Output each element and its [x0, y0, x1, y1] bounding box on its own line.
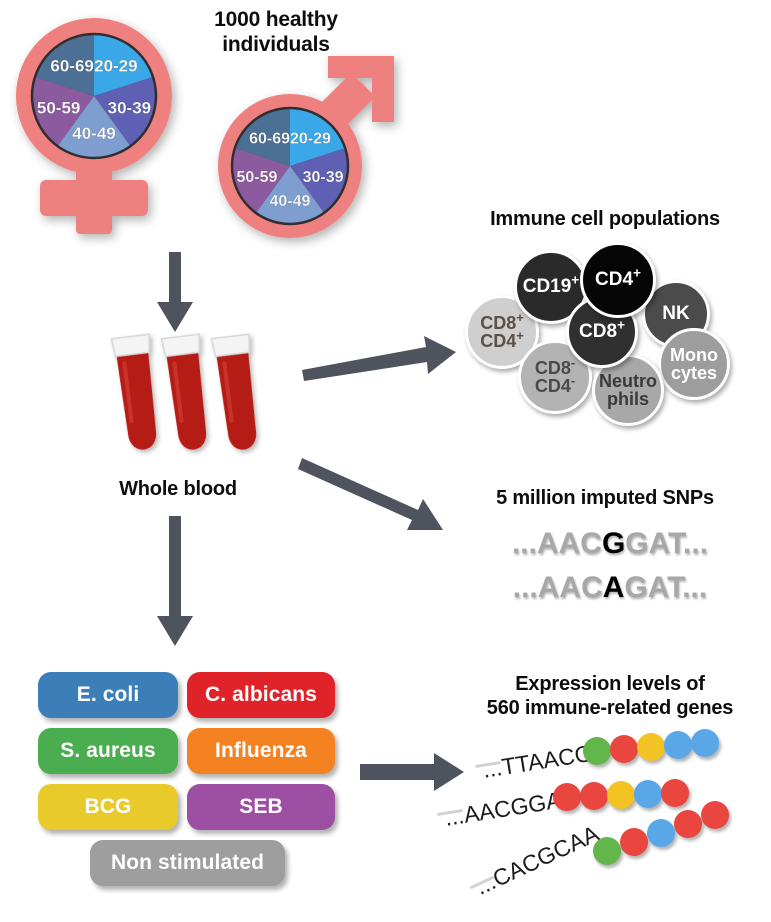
- arrow-down-blood-to-stimuli: [155, 516, 195, 648]
- stimuli-panel: E. coliC. albicansS. aureusInfluenzaBCGS…: [38, 672, 338, 887]
- age-label-60-69: 60-69: [50, 57, 93, 76]
- gene-bead: [607, 781, 635, 809]
- age-label-40-49: 40-49: [72, 124, 115, 143]
- snp-suffix: GAT...: [624, 571, 707, 604]
- snp-suffix: GAT...: [625, 527, 708, 560]
- snps-title: 5 million imputed SNPs: [440, 487, 770, 511]
- immune-cell-CD4: CD4+: [580, 242, 656, 318]
- stimulus-seb[interactable]: SEB: [187, 784, 335, 830]
- gene-bead: [553, 783, 581, 811]
- age-label-60-69: 60-69: [249, 130, 290, 147]
- stimulus-c-albicans[interactable]: C. albicans: [187, 672, 335, 718]
- immune-cell-Monocytes: Monocytes: [658, 328, 730, 400]
- gene-bead: [583, 737, 611, 765]
- gene-bead: [647, 819, 675, 847]
- gene-bead: [661, 779, 689, 807]
- cell-label-line2: phils: [599, 390, 657, 408]
- gene-bead: [593, 837, 621, 865]
- age-label-40-49: 40-49: [270, 193, 311, 210]
- stimulus-label: Influenza: [215, 739, 307, 763]
- stimulus-non-stimulated[interactable]: Non stimulated: [90, 840, 285, 886]
- gene-bead: [691, 729, 719, 757]
- stimulus-label: Non stimulated: [111, 851, 264, 875]
- gene-bead: [610, 735, 638, 763]
- arrow-blood-to-snps: [300, 452, 460, 542]
- cell-label-line1: CD8-: [535, 359, 575, 377]
- age-label-20-29: 20-29: [94, 57, 137, 76]
- stimulus-influenza[interactable]: Influenza: [187, 728, 335, 774]
- figure-canvas: 1000 healthy individuals 20-2930-3940-49…: [0, 0, 771, 922]
- age-label-50-59: 50-59: [37, 98, 80, 117]
- snp-sequence-row: ...AACAGAT...: [470, 571, 750, 605]
- gene-expression-title: Expression levels of 560 immune-related …: [455, 673, 765, 720]
- immune-cell-cluster: CD19+CD4+NKCD8+CD4+CD8+MonocytesCD8-CD4-…: [462, 240, 762, 430]
- blood-tubes: [108, 330, 288, 480]
- stimulus-bcg[interactable]: BCG: [38, 784, 178, 830]
- snp-prefix: ...AAC: [512, 527, 602, 560]
- snp-sequences: ...AACGGAT......AACAGAT...: [470, 527, 750, 607]
- stimulus-label: S. aureus: [60, 739, 155, 763]
- gene-expression-title-line2: 560 immune-related genes: [455, 697, 765, 721]
- cell-label-line1: CD4+: [595, 270, 641, 289]
- gene-bead: [664, 731, 692, 759]
- cell-label-line1: CD19+: [523, 277, 580, 296]
- snp-prefix: ...AAC: [513, 571, 603, 604]
- gene-bead: [637, 733, 665, 761]
- gene-strands: ...TTAACGG...AACGGAT...CACGCAA: [455, 735, 771, 895]
- gene-sequence-text: ...CACGCAA: [471, 820, 603, 901]
- cell-label-line2: CD4+: [480, 332, 524, 350]
- snp-sequence-row: ...AACGGAT...: [470, 527, 750, 561]
- arrow-stimuli-to-genes: [360, 752, 466, 792]
- stimulus-label: E. coli: [77, 683, 140, 707]
- immune-title: Immune cell populations: [440, 208, 770, 232]
- stimulus-label: C. albicans: [205, 683, 317, 707]
- gene-bead: [620, 828, 648, 856]
- stimulus-label: SEB: [239, 795, 282, 819]
- stimulus-s-aureus[interactable]: S. aureus: [38, 728, 178, 774]
- cell-label-line1: CD8+: [579, 322, 625, 341]
- cell-label-line1: NK: [662, 304, 689, 323]
- stimulus-e-coli[interactable]: E. coli: [38, 672, 178, 718]
- stimulus-label: BCG: [85, 795, 132, 819]
- arrow-blood-to-immune-cells: [300, 330, 460, 390]
- gene-bead: [580, 782, 608, 810]
- whole-blood-label: Whole blood: [78, 478, 278, 502]
- age-label-30-39: 30-39: [108, 98, 151, 117]
- gene-bead: [634, 780, 662, 808]
- female-symbol: 20-2930-3940-4950-5960-69: [8, 12, 208, 248]
- cell-label-line2: CD4-: [535, 377, 575, 395]
- gene-bead: [674, 810, 702, 838]
- age-label-20-29: 20-29: [290, 130, 331, 147]
- cell-label-line1: Neutro: [599, 372, 657, 390]
- age-label-30-39: 30-39: [303, 169, 344, 186]
- male-symbol: 20-2930-3940-4950-5960-69: [208, 50, 404, 250]
- arrow-down-cohort-to-blood: [155, 252, 195, 334]
- cell-label-line1: Mono: [670, 346, 718, 364]
- snp-variant-base: G: [602, 527, 625, 560]
- cell-label-line2: cytes: [670, 364, 718, 382]
- snp-variant-base: A: [603, 571, 625, 604]
- age-label-50-59: 50-59: [236, 169, 277, 186]
- gene-expression-title-line1: Expression levels of: [455, 673, 765, 697]
- gene-bead: [701, 801, 729, 829]
